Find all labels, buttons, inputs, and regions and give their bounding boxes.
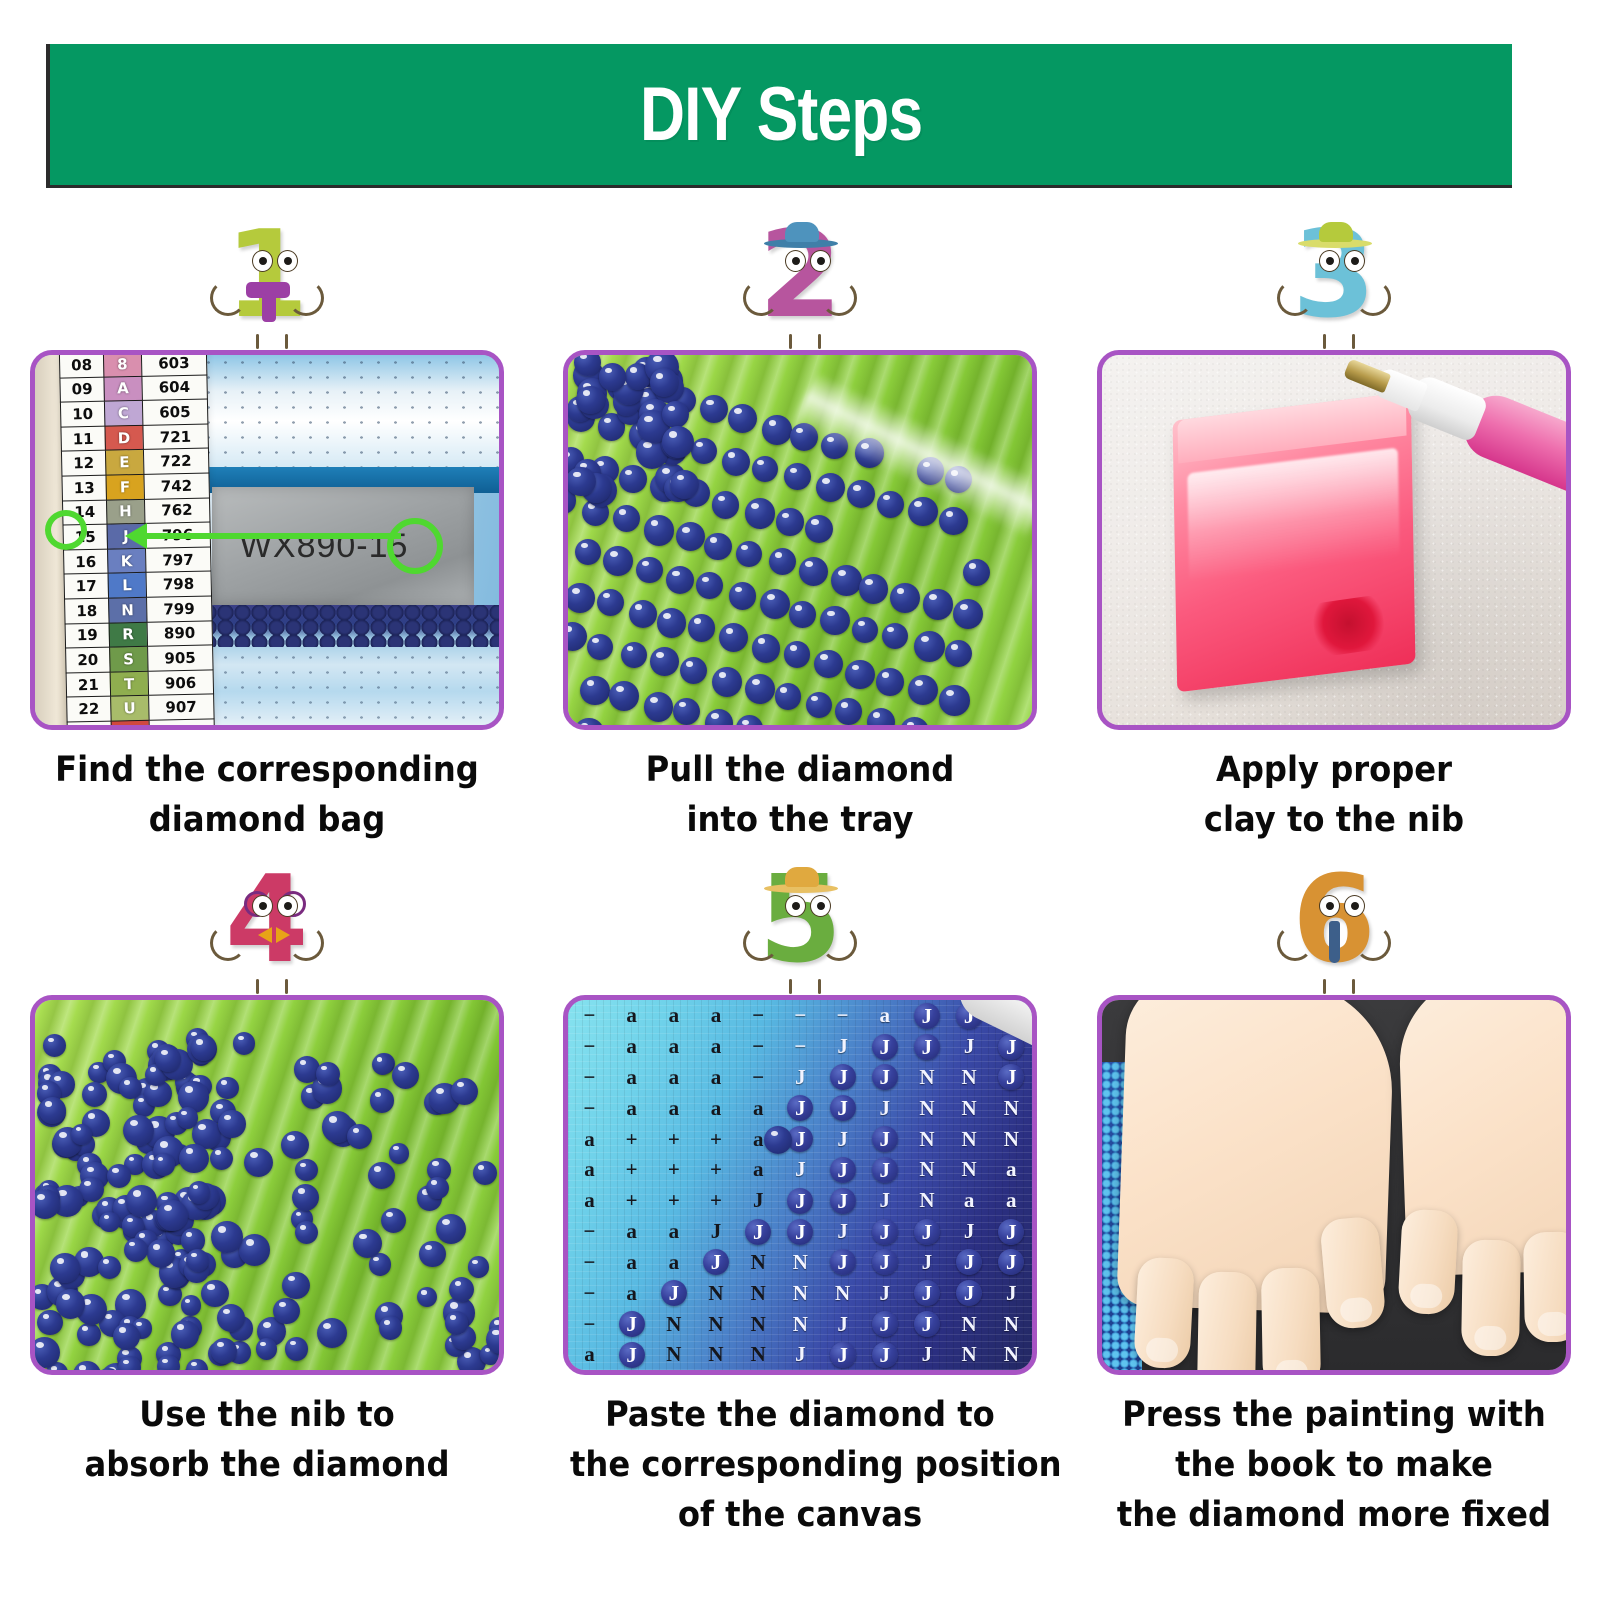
canvas-symbol: J [872,1126,898,1152]
canvas-symbol: a [711,1065,722,1090]
canvas-symbol: J [703,1249,729,1275]
diamond-drill [728,404,757,433]
diamond-drill [923,589,953,619]
step-1-caption: Find the corresponding diamond bag [37,746,497,845]
canvas-symbol: a [626,1003,637,1028]
mascot-bowtie-icon [258,927,290,943]
diamond-drill [805,515,833,543]
step-card-5: 5 −aaa−−−aJJJ−aaa−−JJJJJ−aaa−JJJNNJ−aaaa… [534,845,1068,1540]
chart-cell-code: 762 [144,498,210,524]
mascot-arm-right-icon [288,280,324,316]
canvas-symbol: J [830,1064,856,1090]
diamond-drill [784,641,811,668]
diamond-drill [147,1239,175,1267]
canvas-symbol: − [752,1034,764,1059]
canvas-symbol: J [872,1034,898,1060]
diamond-drill [603,546,633,576]
chart-cell-code: 797 [145,547,211,573]
diamond-drill [119,1077,141,1099]
canvas-symbol: N [835,1281,850,1306]
canvas-symbol: J [872,1157,898,1183]
chart-cell-code: 721 [142,424,208,450]
finger [1261,1268,1321,1370]
canvas-symbol: N [962,1312,977,1337]
diamond-drill [599,363,626,390]
diamond-drill [745,498,775,528]
chart-cell-code: 906 [147,670,213,696]
canvas-symbol: J [1006,1281,1017,1306]
caption-line: the diamond more fixed [1104,1491,1564,1541]
diamond-drill [316,1062,340,1086]
chart-cell-sym: F [106,474,144,499]
chart-row: 22U907 [66,694,213,722]
canvas-symbol: N [793,1281,808,1306]
canvas-symbol: a [584,1342,595,1367]
canvas-symbol: N [962,1157,977,1182]
chart-cell-idx: 22 [66,696,110,722]
finger [1397,1209,1458,1316]
canvas-symbol: + [710,1188,722,1213]
canvas-symbol: − [583,1312,595,1337]
diamond-drill [852,617,878,643]
canvas-symbol: N [962,1096,977,1121]
canvas-symbol: J [872,1342,898,1368]
diamond-drill [882,623,909,650]
diamond-drill [712,491,739,518]
step-5-photo-frame: −aaa−−−aJJJ−aaa−−JJJJJ−aaa−JJJNNJ−aaaaJJ… [563,995,1037,1375]
finger [1461,1240,1521,1357]
canvas-symbol: N [708,1281,723,1306]
chart-cell-code: 907 [148,694,214,720]
mascot-eyes-icon [785,250,831,270]
canvas-symbol: J [661,1280,687,1306]
canvas-symbol: a [669,1065,680,1090]
canvas-symbol: + [668,1157,680,1182]
canvas-symbol: − [752,1065,764,1090]
canvas-symbol: J [795,1342,806,1367]
mascot-arm-left-icon [210,280,246,316]
step-number-6-mascot: 6 [1269,855,1399,995]
chart-row: 19R890 [65,620,212,648]
canvas-symbol: N [793,1250,808,1275]
diamond-drill [752,456,778,482]
diamond-drill [191,1035,217,1061]
diamond-drill [650,647,679,676]
canvas-symbol: N [962,1065,977,1090]
canvas-symbol: N [708,1342,723,1367]
chart-cell-idx: 17 [64,573,108,599]
step-card-1: 1 WX890-15 [0,200,534,845]
diamond-drill [451,1078,478,1105]
diamond-drill [473,1161,497,1185]
steps-row-top: 1 WX890-15 [0,200,1601,845]
step-4-photo-frame [30,995,504,1375]
diamond-drill [580,676,609,705]
canvas-symbol: J [872,1219,898,1245]
blue-diamonds-in-green-tray-photo [568,355,1032,725]
step-2-photo-frame [563,350,1037,730]
canvas-symbol: N [793,1312,808,1337]
diamond-drill [124,1238,148,1262]
diamond-drill [696,572,723,599]
steps-row-bottom: 4 Use [0,845,1601,1540]
chart-cell-code: 604 [141,375,207,401]
chart-cell-idx: 18 [64,598,108,624]
canvas-symbol: a [626,1219,637,1244]
canvas-symbol: + [668,1188,680,1213]
diamond-drill [939,507,968,536]
diamond-drill [98,1256,121,1279]
chart-cell-sym: C [104,401,142,426]
chart-cell-sym: E [105,450,143,475]
canvas-symbol: J [964,1034,975,1059]
mascot-eyes-icon [252,250,298,270]
canvas-symbol: N [919,1127,934,1152]
chart-cell-idx: 20 [65,647,109,673]
step-number-5-mascot: 5 [735,855,865,995]
diamond-drill [273,1298,300,1325]
mascot-legs-icon [781,334,829,350]
canvas-symbol: N [919,1065,934,1090]
step-number-2-wrap: 2 [534,200,1068,350]
chart-cell-idx: 11 [61,426,105,452]
mascot-legs-icon [248,979,296,995]
diamond-drill [171,1320,200,1349]
canvas-symbol: J [922,1250,933,1275]
diamond-drill [188,1181,211,1204]
chart-row: 09A604 [60,375,207,403]
diamond-drill [153,1153,176,1176]
diamond-drill [945,640,972,667]
pen-picking-up-diamond-photo [35,1000,499,1370]
canvas-symbol: J [914,1034,940,1060]
diamond-drill [155,1046,181,1072]
color-chart-and-diamond-bags-photo: WX890-15 08860309A60410C60511D72112E7221… [35,355,499,725]
diamond-drill [784,463,811,490]
mascot-tie-icon [1329,921,1340,963]
diamond-drill [776,508,803,535]
canvas-symbol: + [710,1157,722,1182]
chart-cell-code: 890 [146,620,212,646]
canvas-symbol: J [795,1157,806,1182]
chart-row: 17L798 [64,571,211,599]
canvas-symbol: J [998,1249,1024,1275]
canvas-symbol: a [753,1127,764,1152]
diamond-drill [613,505,640,532]
canvas-symbol: a [669,1219,680,1244]
canvas-symbol: N [1004,1096,1019,1121]
diamond-drill [939,685,969,715]
chart-cell-code: 722 [143,448,209,474]
diamond-drill [680,657,707,684]
canvas-symbol: + [668,1127,680,1152]
step-number-4-mascot: 4 [202,855,332,995]
finger [1523,1232,1566,1343]
canvas-symbol: J [872,1064,898,1090]
chart-cell-idx: 12 [61,451,105,477]
canvas-symbol: N [919,1096,934,1121]
canvas-symbol: − [837,1003,849,1028]
canvas-symbol: J [914,1219,940,1245]
chart-row: 16K797 [63,547,210,575]
canvas-symbol: J [872,1249,898,1275]
step-3-caption: Apply proper clay to the nib [1104,746,1564,845]
canvas-symbol: N [919,1157,934,1182]
canvas-symbol: a [584,1127,595,1152]
diamond-drill [177,1107,198,1128]
step-number-6-wrap: 6 [1067,845,1601,995]
diamond-drill [752,634,781,663]
canvas-symbol: J [837,1312,848,1337]
canvas-symbol: N [962,1342,977,1367]
diamond-drill [619,465,646,492]
chart-cell-sym: R [109,622,147,647]
canvas-symbol: J [998,1219,1024,1245]
canvas-symbol: − [583,1065,595,1090]
canvas-symbol: J [956,1280,982,1306]
canvas-symbol: J [880,1096,891,1121]
chart-cell-idx: 19 [65,623,109,649]
diamond-drill [621,642,647,668]
mascot-eyes-icon [1319,250,1365,270]
diamond-drill [218,1110,246,1138]
diamond-drill [704,533,732,561]
diamond-drill [814,650,843,679]
canvas-symbol: J [837,1034,848,1059]
bag-beads-row [200,605,499,647]
diamond-drill [282,1272,309,1299]
hands-pressing-book-on-canvas-photo [1102,1000,1566,1370]
mascot-arm-right-icon [1355,280,1391,316]
canvas-symbol: N [962,1127,977,1152]
diamond-drill [233,1032,255,1054]
caption-line: the corresponding position [570,1441,1030,1491]
diamond-drill [789,601,816,628]
canvas-symbol: N [666,1342,681,1367]
mascot-scarf-icon [246,282,290,298]
chart-cell-idx: 21 [66,672,110,698]
chart-cell-idx: 08 [59,355,103,378]
highlight-circle-bag-number [387,518,443,574]
diamond-drill [217,1304,245,1332]
clay-dent [1311,594,1388,657]
canvas-symbol: a [626,1065,637,1090]
canvas-symbol: − [752,1003,764,1028]
diamond-drill [295,1159,317,1181]
diamond-drill [597,589,624,616]
caption-line: Paste the diamond to [570,1391,1030,1441]
canvas-symbol: J [956,1249,982,1275]
chart-cell-sym: A [104,376,142,401]
mascot-arm-left-icon [210,925,246,961]
canvas-symbol: J [914,1280,940,1306]
chart-cell-code: 905 [147,645,213,671]
canvas-symbol: J [830,1157,856,1183]
page-title: DIY Steps [640,71,922,158]
chart-row: 13F742 [62,473,209,501]
chart-cell-idx: 13 [62,475,106,501]
chart-cell-idx: 10 [60,401,104,427]
canvas-symbol: + [626,1157,638,1182]
step-4-caption: Use the nib to absorb the diamond [37,1391,497,1490]
step-card-4: 4 Use [0,845,534,1540]
mascot-arm-right-icon [288,925,324,961]
diamond-drill [419,1241,445,1267]
highlight-circle-chart-row [45,510,87,550]
canvas-symbol: a [1006,1157,1017,1182]
canvas-symbol: J [787,1188,813,1214]
diamond-drill [211,1338,237,1364]
chart-row: 11D721 [61,424,208,452]
step-5-caption: Paste the diamond to the corresponding p… [570,1391,1030,1540]
diamond-drill [381,1208,406,1233]
caption-line: Find the corresponding [37,746,497,796]
diamond-drill [370,1088,394,1112]
mascot-hat-icon [773,867,829,893]
diamond-drill [56,1289,85,1318]
mascot-digit-1: 1 [202,210,332,342]
caption-line: absorb the diamond [37,1441,497,1491]
canvas-symbol: J [830,1342,856,1368]
canvas-symbol: N [751,1250,766,1275]
canvas-symbol: J [619,1311,645,1337]
canvas-symbol: − [583,1219,595,1244]
diamond-drill [831,565,862,596]
diamond-drill [644,692,674,722]
canvas-symbol: N [919,1188,934,1213]
canvas-symbol: a [626,1281,637,1306]
step-card-3: 3 [1067,200,1601,845]
canvas-symbol: a [669,1250,680,1275]
diamond-drill [820,606,849,635]
header-banner: DIY Steps [46,44,1512,188]
diamond-drill [775,683,802,710]
step-number-1-mascot: 1 [202,210,332,350]
placing-diamond-on-canvas-photo: −aaa−−−aJJJ−aaa−−JJJJJ−aaa−JJJNNJ−aaaaJJ… [568,1000,1032,1370]
diamond-drill [368,1162,395,1189]
chart-cell-code: 947 [148,719,214,725]
diamond-drill [118,1356,140,1370]
canvas-symbol: a [669,1003,680,1028]
pen-pressed-into-pink-clay-photo [1102,355,1566,725]
canvas-symbol: J [745,1219,771,1245]
chart-cell-sym: T [110,671,148,696]
step-1-photo-frame: WX890-15 08860309A60410C60511D72112E7221… [30,350,504,730]
canvas-symbol: − [583,1034,595,1059]
diamond-drill [688,614,716,642]
canvas-symbol: N [708,1312,723,1337]
canvas-symbol: a [964,1188,975,1213]
canvas-symbol: N [751,1281,766,1306]
chart-row: 18N799 [64,596,211,624]
canvas-symbol: N [751,1312,766,1337]
caption-line: into the tray [570,796,1030,846]
canvas-symbol: a [880,1003,891,1028]
canvas-symbol: a [711,1034,722,1059]
canvas-symbol: a [584,1188,595,1213]
diamond-drill [877,491,904,518]
chart-cell-code: 799 [146,596,212,622]
canvas-symbol: − [583,1096,595,1121]
step-number-4-wrap: 4 [0,845,534,995]
caption-line: clay to the nib [1104,796,1564,846]
canvas-symbol: J [922,1342,933,1367]
diamond-drill [799,557,828,586]
chart-row: 20S905 [65,645,212,673]
canvas-symbol: J [880,1188,891,1213]
diamond-drill [636,557,662,583]
chart-cell-code: 605 [142,399,208,425]
diamond-drill [729,582,757,610]
mascot-eyes-icon [1319,895,1365,915]
canvas-symbol: a [711,1096,722,1121]
diamond-drill [806,692,832,718]
chart-cell-idx: 16 [63,549,107,575]
canvas-symbol: a [626,1096,637,1121]
chart-cell-sym: 8 [103,355,141,377]
canvas-symbol: J [964,1219,975,1244]
diamond-drill [281,1131,309,1159]
diamond-drill [389,1143,410,1164]
mascot-legs-icon [781,979,829,995]
step-number-5-wrap: 5 [534,845,1068,995]
canvas-symbol: J [880,1281,891,1306]
diamond-drill [77,1323,101,1347]
canvas-symbol: a [753,1157,764,1182]
diamond-drill [629,600,657,628]
diamond-drill [644,515,675,546]
canvas-symbol: a [584,1157,595,1182]
canvas-symbol: J [795,1065,806,1090]
diamond-drill [210,1147,233,1170]
diamond-drill [379,1316,402,1339]
caption-line: diamond bag [37,796,497,846]
diamond-drill [908,497,938,527]
mascot-digit-4: 4 [202,855,332,987]
chart-cell-sym: S [109,646,147,671]
canvas-symbol: N [1004,1312,1019,1337]
diamond-drill [835,698,862,725]
diamond-drill [126,1185,158,1217]
diamond-drill [859,574,888,603]
canvas-symbol: J [914,1003,940,1029]
canvas-symbol: J [914,1311,940,1337]
canvas-symbol: a [626,1250,637,1275]
bag-top [200,355,499,475]
mascot-legs-icon [248,334,296,350]
diamond-drill [239,1234,270,1265]
steps-grid: 1 WX890-15 [0,200,1601,1540]
canvas-symbol: J [830,1249,856,1275]
diamond-drill [157,1355,180,1370]
canvas-symbol: a [753,1096,764,1121]
canvas-symbol-grid: −aaa−−−aJJJ−aaa−−JJJJJ−aaa−JJJNNJ−aaaaJJ… [568,1000,1032,1370]
mascot-hat-icon [773,222,829,248]
step-6-caption: Press the painting with the book to make… [1104,1391,1564,1540]
diamond-drill [392,1062,419,1089]
chart-cell-sym: K [107,548,145,573]
diamond-drill [426,1177,449,1200]
diamond-drill [650,368,679,397]
diamond-drill [587,634,613,660]
chart-cell-code: 603 [141,355,207,376]
canvas-symbol: J [872,1311,898,1337]
diamond-drill [890,583,920,613]
finger [1319,1216,1386,1331]
caption-line: of the canvas [570,1491,1030,1541]
diamond-drill [50,1253,80,1283]
canvas-symbol: − [794,1034,806,1059]
